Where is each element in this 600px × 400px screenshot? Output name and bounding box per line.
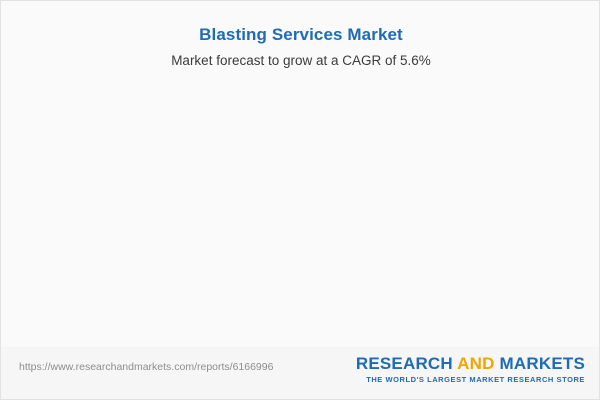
- logo-word-and: AND: [457, 354, 494, 373]
- logo-word-research: RESEARCH: [356, 354, 457, 373]
- research-and-markets-logo[interactable]: RESEARCH AND MARKETS THE WORLD'S LARGEST…: [356, 355, 585, 384]
- logo-word-markets: MARKETS: [495, 354, 585, 373]
- chart-canvas: Blasting Services Market Market forecast…: [0, 0, 600, 400]
- logo-tagline: THE WORLD'S LARGEST MARKET RESEARCH STOR…: [356, 375, 585, 384]
- plot-area: USD 5.96 Billion 2026 USD 7.39 Billion: [1, 1, 600, 349]
- logo-wordmark: RESEARCH AND MARKETS: [356, 355, 585, 373]
- report-url[interactable]: https://www.researchandmarkets.com/repor…: [19, 361, 273, 373]
- footer: https://www.researchandmarkets.com/repor…: [1, 347, 600, 399]
